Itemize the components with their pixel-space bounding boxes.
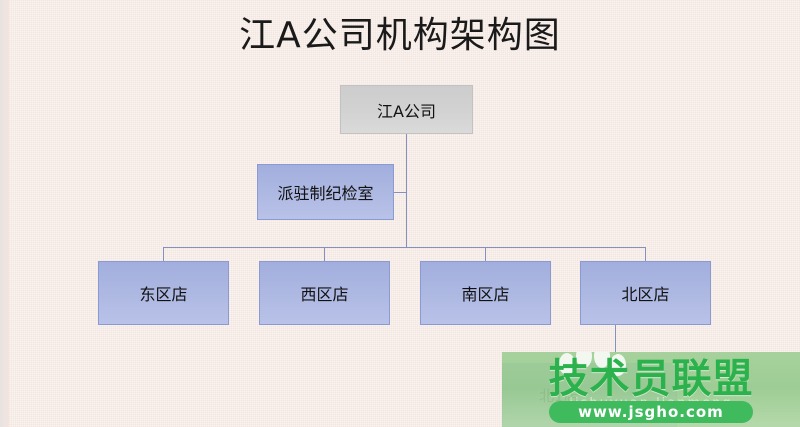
connector-drop-south xyxy=(485,247,486,261)
org-node-branch-south[interactable]: 南区店 xyxy=(420,261,551,325)
slide-left-edge-band xyxy=(0,0,9,427)
connector-drop-east xyxy=(163,247,164,261)
connector-drop-west xyxy=(324,247,325,261)
connector-horizontal-bus xyxy=(163,247,646,248)
watermark-banner: jishuyuan lianmeng 技术员联盟 www.jsgho.com xyxy=(502,352,800,427)
connector-staff-stub xyxy=(394,192,407,193)
org-node-root[interactable]: 江A公司 xyxy=(340,85,473,134)
org-node-staff-inspection[interactable]: 派驻制纪检室 xyxy=(257,164,394,220)
watermark-url: www.jsgho.com xyxy=(549,401,753,423)
connector-drop-north xyxy=(645,247,646,261)
presentation-slide: 江A公司机构架构图 江A公司 派驻制纪检室 东区店 西区店 南区店 北区店 北1… xyxy=(0,0,800,427)
org-node-branch-north[interactable]: 北区店 xyxy=(580,261,711,325)
watermark-brand-text: 技术员联盟 xyxy=(506,356,796,402)
org-node-branch-west[interactable]: 西区店 xyxy=(259,261,390,325)
page-title: 江A公司机构架构图 xyxy=(0,14,800,58)
org-node-branch-east[interactable]: 东区店 xyxy=(98,261,229,325)
connector-root-to-bus xyxy=(406,134,407,247)
